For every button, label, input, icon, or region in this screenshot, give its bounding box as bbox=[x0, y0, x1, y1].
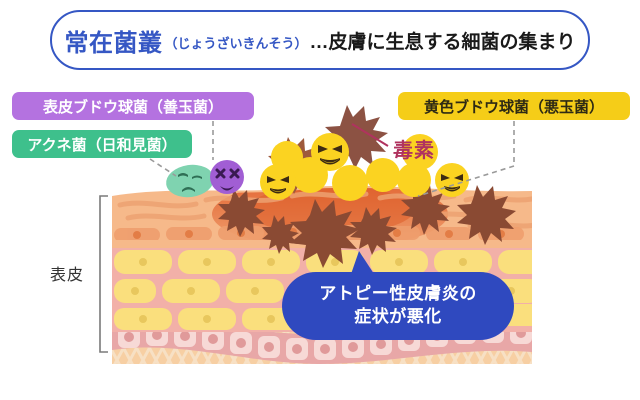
callout-bubble: アトピー性皮膚炎の 症状が悪化 bbox=[282, 272, 514, 340]
title-term: 常在菌叢 bbox=[64, 23, 162, 58]
legend-chip-label: 黄色ブドウ球菌（悪玉菌） bbox=[424, 96, 604, 117]
aureus-cell bbox=[332, 165, 368, 201]
legend-chip-label: 表皮ブドウ球菌（善玉菌） bbox=[43, 96, 223, 117]
aureus-cell bbox=[366, 158, 400, 192]
staphylococcus-epidermidis-icon bbox=[210, 160, 244, 194]
callout-line-1: アトピー性皮膚炎の bbox=[319, 283, 477, 306]
aureus-cell-with-face bbox=[260, 164, 296, 200]
legend-chip-staphylococcus-epidermidis: 表皮ブドウ球菌（善玉菌） bbox=[12, 92, 254, 120]
epidermis-bracket bbox=[100, 196, 108, 352]
legend-chip-staphylococcus-aureus: 黄色ブドウ球菌（悪玉菌） bbox=[398, 92, 630, 120]
legend-chip-label: アクネ菌（日和見菌） bbox=[27, 134, 176, 155]
toxin-label: 毒素 bbox=[393, 134, 435, 163]
diagram-canvas: 常在菌叢 （じょうざいきんそう） …皮膚に生息する細菌の集まり 表皮ブドウ球菌（… bbox=[0, 0, 640, 400]
title-description: …皮膚に生息する細菌の集まり bbox=[310, 27, 576, 54]
legend-chip-cutibacterium-acnes: アクネ菌（日和見菌） bbox=[12, 130, 192, 158]
aureus-cell-with-face bbox=[435, 163, 469, 197]
epidermis-label: 表皮 bbox=[50, 261, 84, 285]
title-furigana: （じょうざいきんそう） bbox=[164, 33, 307, 52]
aureus-cell-with-face bbox=[311, 133, 349, 171]
callout-line-2: 症状が悪化 bbox=[354, 306, 442, 329]
title-banner: 常在菌叢 （じょうざいきんそう） …皮膚に生息する細菌の集まり bbox=[50, 10, 590, 70]
